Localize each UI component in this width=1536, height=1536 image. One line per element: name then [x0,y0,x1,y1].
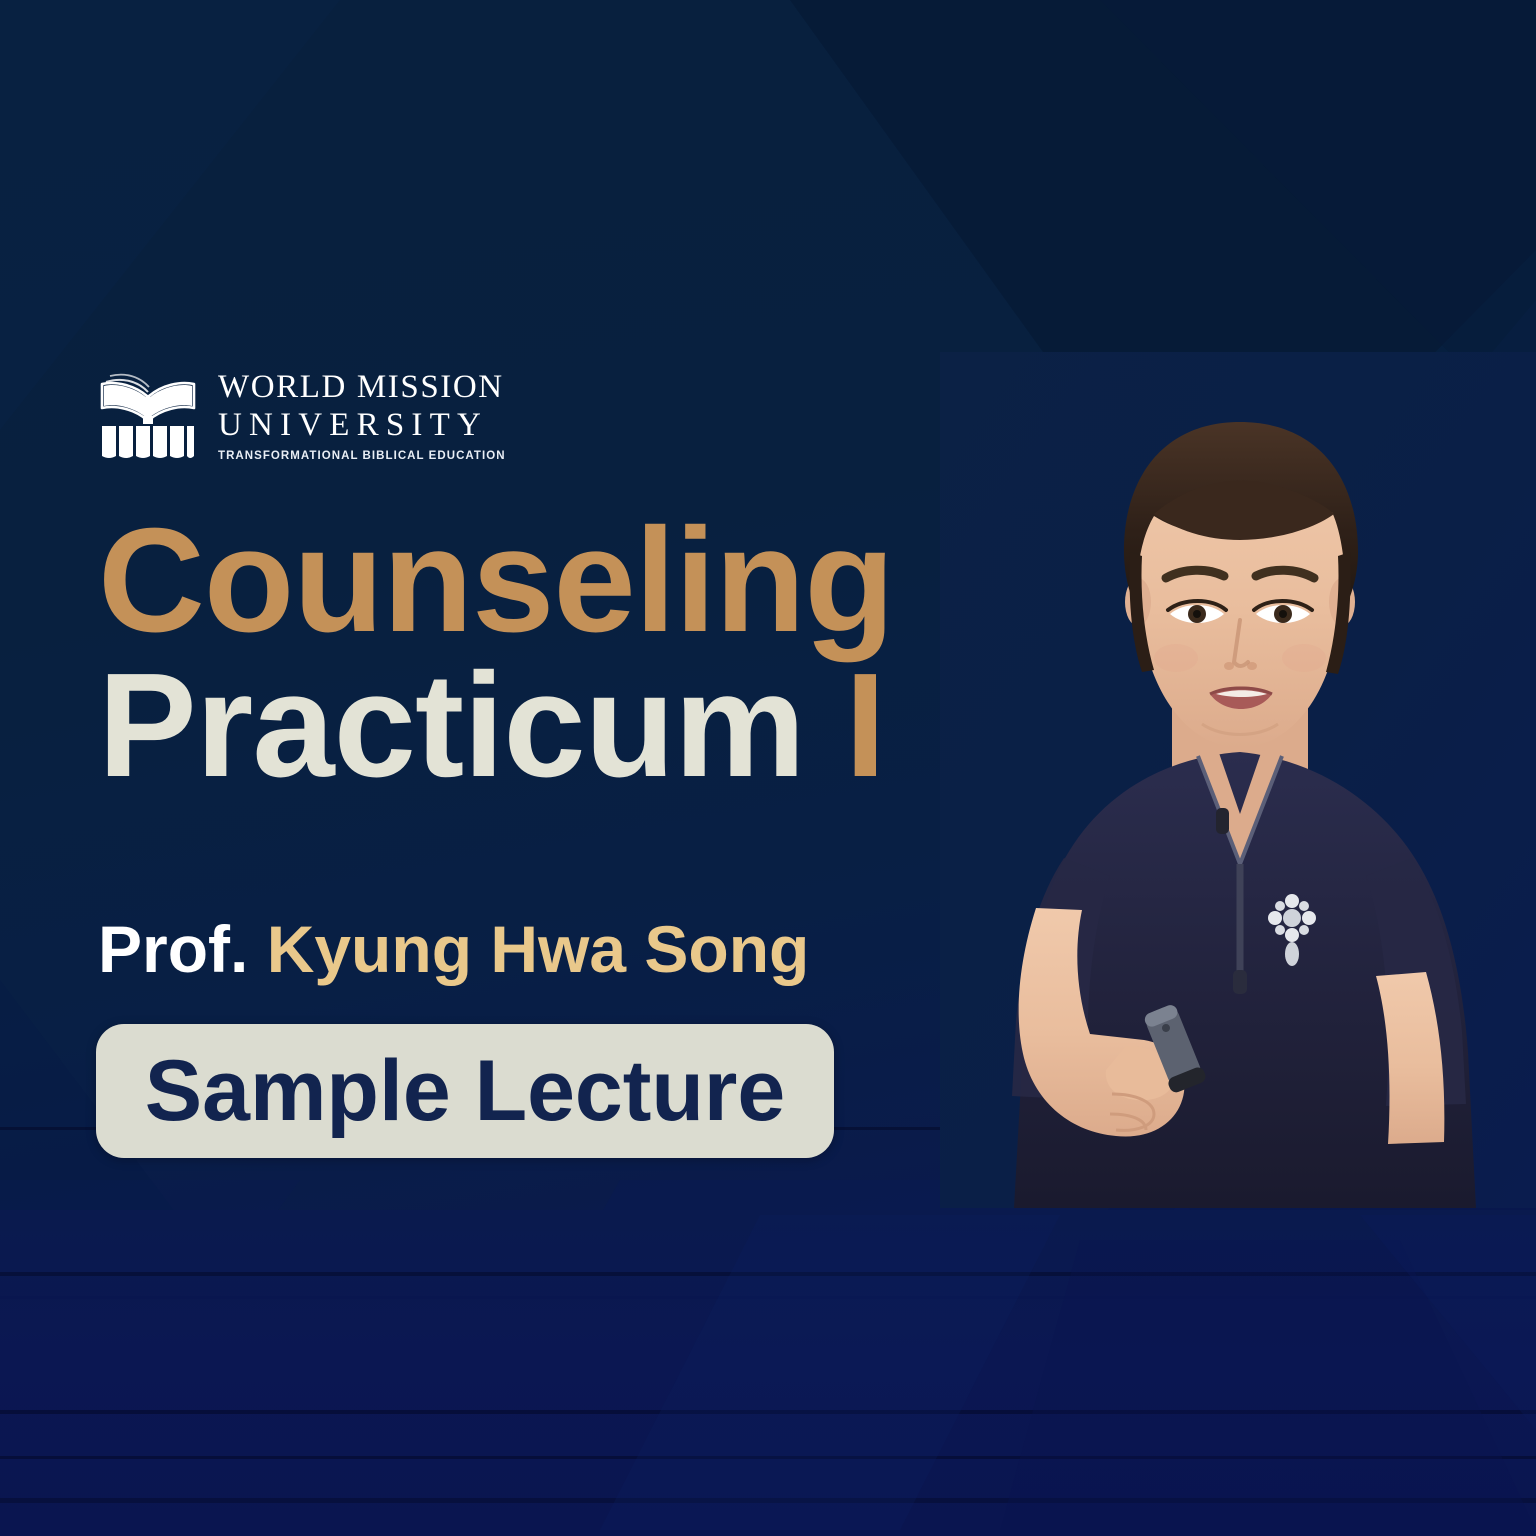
presenter-photo [940,352,1536,1208]
course-title-numeral: I [845,643,885,808]
course-title-line-1: Counseling [98,508,918,653]
university-logo: WORLD MISSION UNIVERSITY TRANSFORMATIONA… [96,366,506,462]
open-book-icon [96,368,200,460]
lecture-title-card: WORLD MISSION UNIVERSITY TRANSFORMATIONA… [0,0,1536,1536]
logo-line-2: UNIVERSITY [218,406,506,444]
professor-line: Prof. Kyung Hwa Song [98,916,809,982]
course-title-word: Practicum [98,643,805,808]
sample-lecture-badge-label: Sample Lecture [145,1048,785,1134]
professor-prefix: Prof. [98,912,248,986]
course-title-line-2: Practicum I [98,653,918,798]
professor-name: Kyung Hwa Song [267,912,810,986]
sample-lecture-badge[interactable]: Sample Lecture [96,1024,834,1158]
logo-tagline: TRANSFORMATIONAL BIBLICAL EDUCATION [218,450,506,462]
logo-line-1: WORLD MISSION [218,368,506,406]
logo-wordmark: WORLD MISSION UNIVERSITY TRANSFORMATIONA… [218,366,506,462]
course-title: Counseling Practicum I [98,508,918,798]
